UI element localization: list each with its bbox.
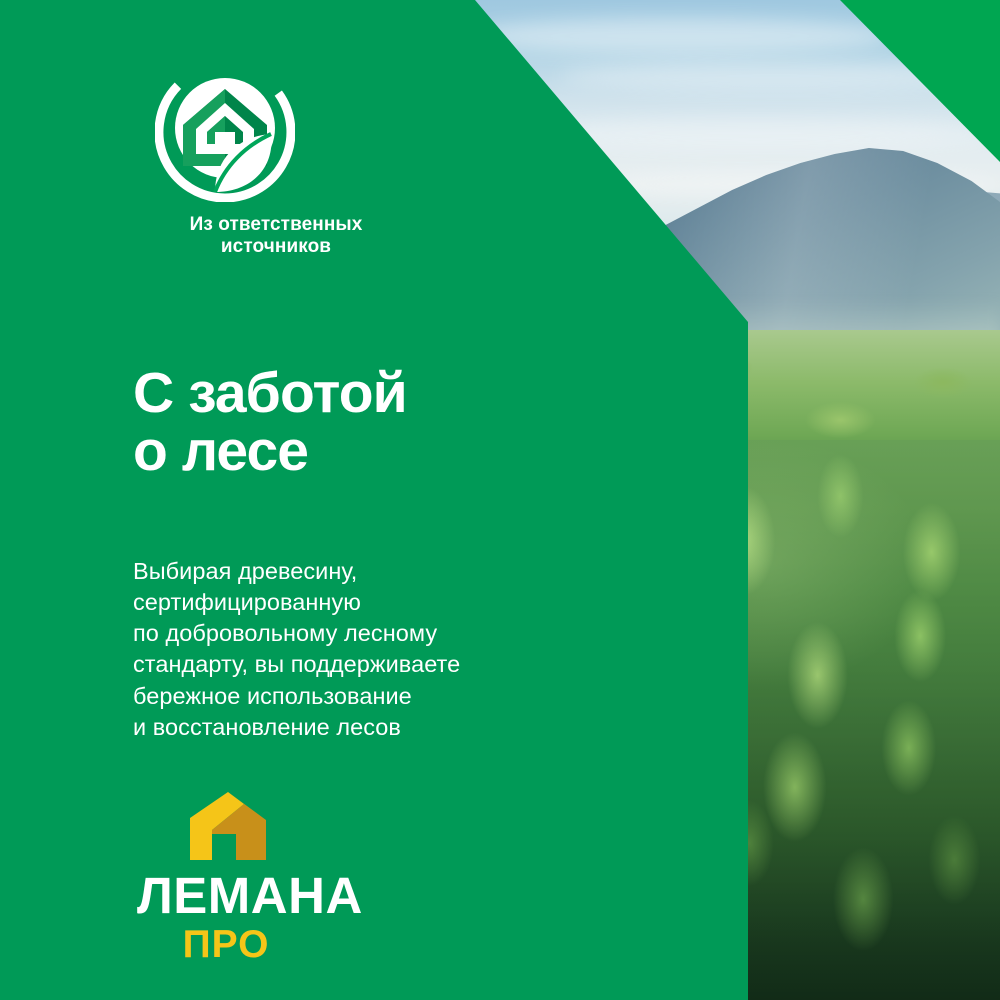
eco-badge-caption: Из ответственных источников	[128, 214, 424, 259]
poster-canvas: Из ответственных источников С заботой о …	[0, 0, 1000, 1000]
body-paragraph: Выбирая древесину, сертифицированную по …	[133, 556, 460, 744]
brand-lockup: ЛЕМАНА ПРО	[137, 790, 367, 964]
eco-caption-line-1: Из ответственных	[128, 214, 424, 236]
poster-content: Из ответственных источников С заботой о …	[0, 0, 1000, 1000]
page-title: С заботой о лесе	[133, 364, 407, 480]
brand-suffix: ПРО	[137, 925, 315, 964]
eco-house-leaf-circle-mark	[155, 62, 295, 202]
eco-caption-line-2: источников	[128, 236, 424, 258]
brand-name: ЛЕМАНА	[137, 870, 315, 921]
eco-badge: Из ответственных источников	[128, 62, 458, 259]
lemana-house-logo	[182, 790, 274, 862]
